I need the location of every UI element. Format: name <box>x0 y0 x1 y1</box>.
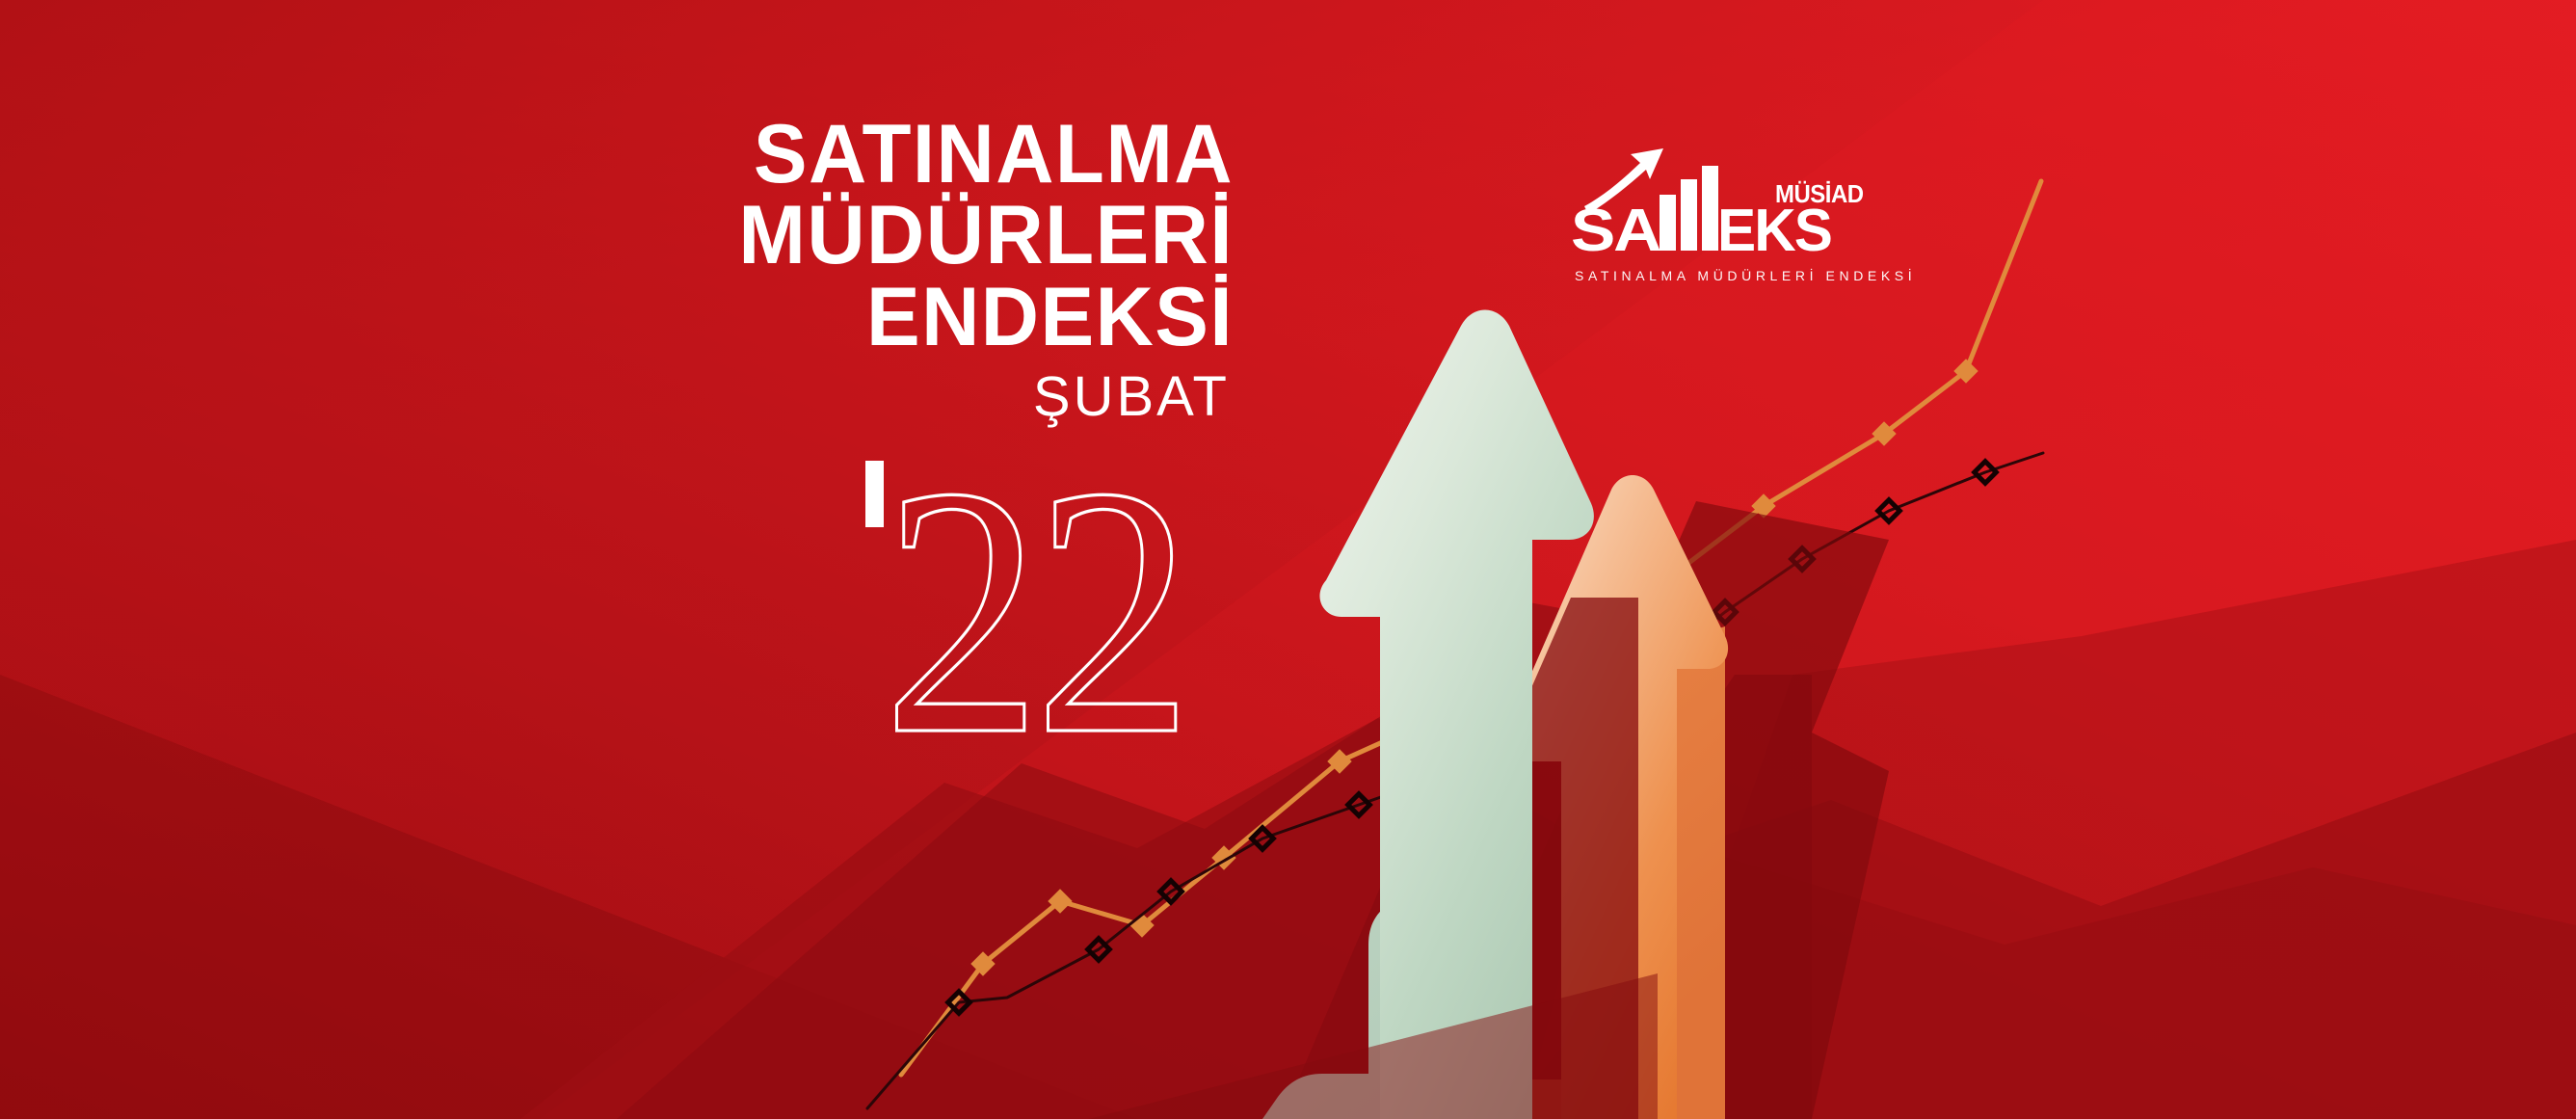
poster-ribbon-tails <box>0 0 2576 1119</box>
logo-tagline: SATINALMA MÜDÜRLERİ ENDEKSİ <box>1571 265 1908 283</box>
svg-text:SA: SA <box>1571 198 1660 264</box>
poster-banner: SATINALMA MÜDÜRLERİ ENDEKSİ ŞUBAT 22 <box>0 0 2576 1119</box>
bar-chart-icon <box>1660 166 1718 251</box>
sameks-logo: SA EKS MÜSİAD SATINALMA MÜDÜRLERİ ENDEKS… <box>1571 145 1908 283</box>
logo-mark: SA EKS MÜSİAD <box>1571 145 1908 265</box>
logo-musiad-wordmark: MÜSİAD <box>1775 179 1864 209</box>
